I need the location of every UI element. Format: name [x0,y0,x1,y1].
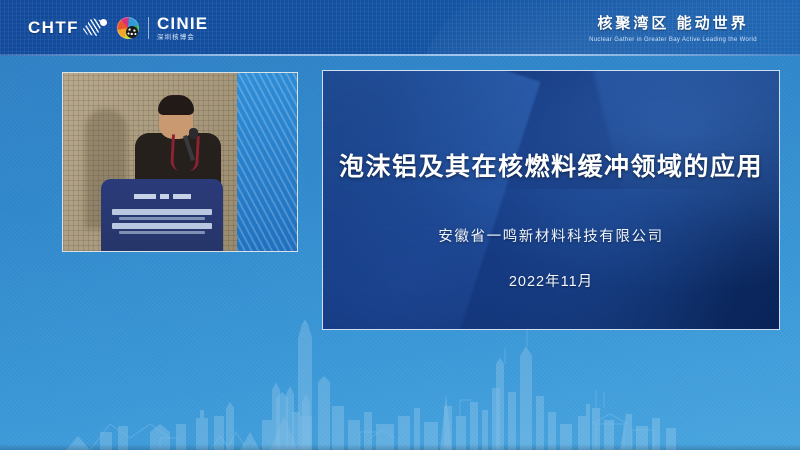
podium-text-line-1 [112,209,212,215]
slide-company-name: 安徽省一鸣新材料科技有限公司 [438,225,663,246]
event-slogan: 核聚湾区 能动世界 Nuclear Gather in Greater Bay … [568,12,778,43]
slogan-english: Nuclear Gather in Greater Bay Active Lea… [568,37,778,43]
cinie-logo-text: CINIE [157,15,208,32]
presentation-slide[interactable]: 泡沫铝及其在核燃料缓冲领域的应用 安徽省一鸣新材料科技有限公司 2022年11月 [322,70,780,330]
speaker-video-inset[interactable] [62,72,298,252]
microphone-icon [189,128,198,139]
shuttlecock-icon [81,16,107,40]
slide-date: 2022年11月 [509,270,593,291]
speaker-hair [158,95,194,115]
cinie-emblem-icon [117,17,139,39]
podium-subtext-line-1 [119,217,205,220]
event-logo-group: CHTF CINIE 深圳核博会 [28,13,208,43]
presentation-stage: CHTF CINIE 深圳核博会 核聚湾区 能动世界 Nuclear Gathe… [0,0,800,450]
podium-subtext-line-2 [119,231,205,234]
slide-title: 泡沫铝及其在核燃料缓冲领域的应用 [339,147,763,183]
bottom-fade [0,444,800,450]
podium-sign [101,179,223,251]
stage-side-panel [237,73,297,251]
cinie-logo-subtext: 深圳核博会 [157,35,208,42]
slogan-chinese: 核聚湾区 能动世界 [568,12,778,33]
header-divider [0,54,800,56]
shenzhen-skyline-icon [0,320,800,450]
podium-text-line-2 [112,223,212,229]
podium-logo [115,192,209,200]
chtf-logo-text: CHTF [28,18,79,38]
cinie-logo-group: CINIE 深圳核博会 [157,15,208,41]
logo-divider [148,17,149,39]
